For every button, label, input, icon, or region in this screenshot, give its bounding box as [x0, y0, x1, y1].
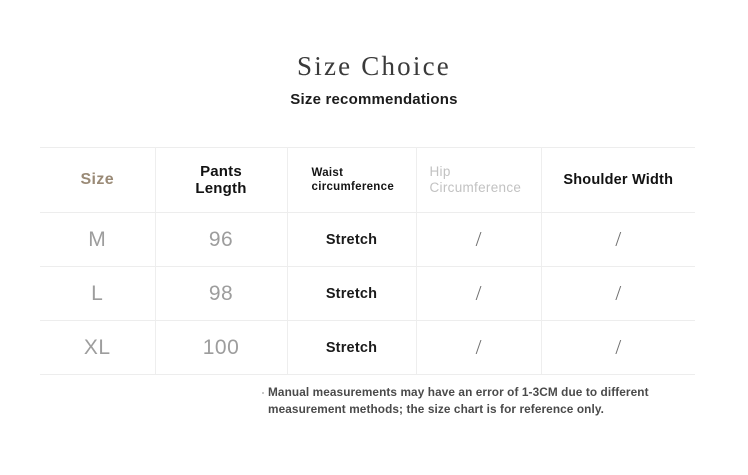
cell-waist-circumference-value: Stretch [288, 340, 416, 356]
cell-size-value: XL [40, 336, 155, 360]
size-table: Size Pants Length Waist circumference Hi… [40, 147, 695, 375]
size-chart-page: Size Choice Size recommendations Size Pa… [0, 0, 748, 475]
cell-shoulder-width-value: / [542, 227, 696, 252]
cell-hip-circumference: / [416, 321, 541, 375]
measurement-disclaimer-line1: Manual measurements may have an error of… [262, 384, 687, 401]
cell-waist-circumference: Stretch [287, 321, 416, 375]
cell-shoulder-width: / [541, 267, 695, 321]
cell-hip-circumference-value: / [417, 281, 541, 306]
cell-hip-circumference-value: / [417, 335, 541, 360]
table-row: XL 100 Stretch / / [40, 321, 695, 375]
table-row: L 98 Stretch / / [40, 267, 695, 321]
column-header-waist-circumference-label-line2: circumference [288, 180, 416, 194]
cell-size: L [40, 267, 155, 321]
cell-pants-length-value: 100 [156, 336, 287, 360]
column-header-pants-length: Pants Length [155, 148, 287, 213]
column-header-pants-length-label-line1: Pants [156, 163, 287, 180]
cell-shoulder-width-value: / [542, 281, 696, 306]
page-subtitle: Size recommendations [0, 91, 748, 109]
cell-shoulder-width: / [541, 213, 695, 267]
cell-size: M [40, 213, 155, 267]
cell-size-value: M [40, 228, 155, 252]
page-title: Size Choice [0, 50, 748, 82]
cell-waist-circumference-value: Stretch [288, 232, 416, 248]
column-header-size: Size [40, 148, 155, 213]
column-header-pants-length-label-line2: Length [156, 180, 287, 197]
table-row: M 96 Stretch / / [40, 213, 695, 267]
cell-hip-circumference: / [416, 213, 541, 267]
cell-pants-length: 96 [155, 213, 287, 267]
measurement-disclaimer-line2: measurement methods; the size chart is f… [262, 401, 687, 418]
cell-pants-length-value: 96 [156, 228, 287, 252]
column-header-shoulder-width: Shoulder Width [541, 148, 695, 213]
column-header-waist-circumference-label-line1: Waist [288, 166, 416, 180]
title-block: Size Choice Size recommendations [0, 50, 748, 109]
bullet-dot-icon [262, 392, 264, 394]
size-table-container: Size Pants Length Waist circumference Hi… [40, 147, 695, 367]
cell-waist-circumference-value: Stretch [288, 286, 416, 302]
cell-shoulder-width: / [541, 321, 695, 375]
column-header-size-label: Size [40, 171, 155, 189]
column-header-hip-circumference-label-line2: Circumference [417, 180, 541, 196]
cell-waist-circumference: Stretch [287, 213, 416, 267]
cell-shoulder-width-value: / [542, 335, 696, 360]
table-header-row: Size Pants Length Waist circumference Hi… [40, 148, 695, 213]
column-header-shoulder-width-label: Shoulder Width [542, 172, 696, 188]
cell-pants-length: 98 [155, 267, 287, 321]
cell-hip-circumference-value: / [417, 227, 541, 252]
cell-pants-length-value: 98 [156, 282, 287, 306]
cell-pants-length: 100 [155, 321, 287, 375]
column-header-hip-circumference-label-line1: Hip [417, 164, 541, 180]
cell-hip-circumference: / [416, 267, 541, 321]
cell-waist-circumference: Stretch [287, 267, 416, 321]
column-header-hip-circumference: Hip Circumference [416, 148, 541, 213]
column-header-waist-circumference: Waist circumference [287, 148, 416, 213]
measurement-disclaimer: Manual measurements may have an error of… [262, 384, 687, 417]
cell-size-value: L [40, 282, 155, 306]
cell-size: XL [40, 321, 155, 375]
